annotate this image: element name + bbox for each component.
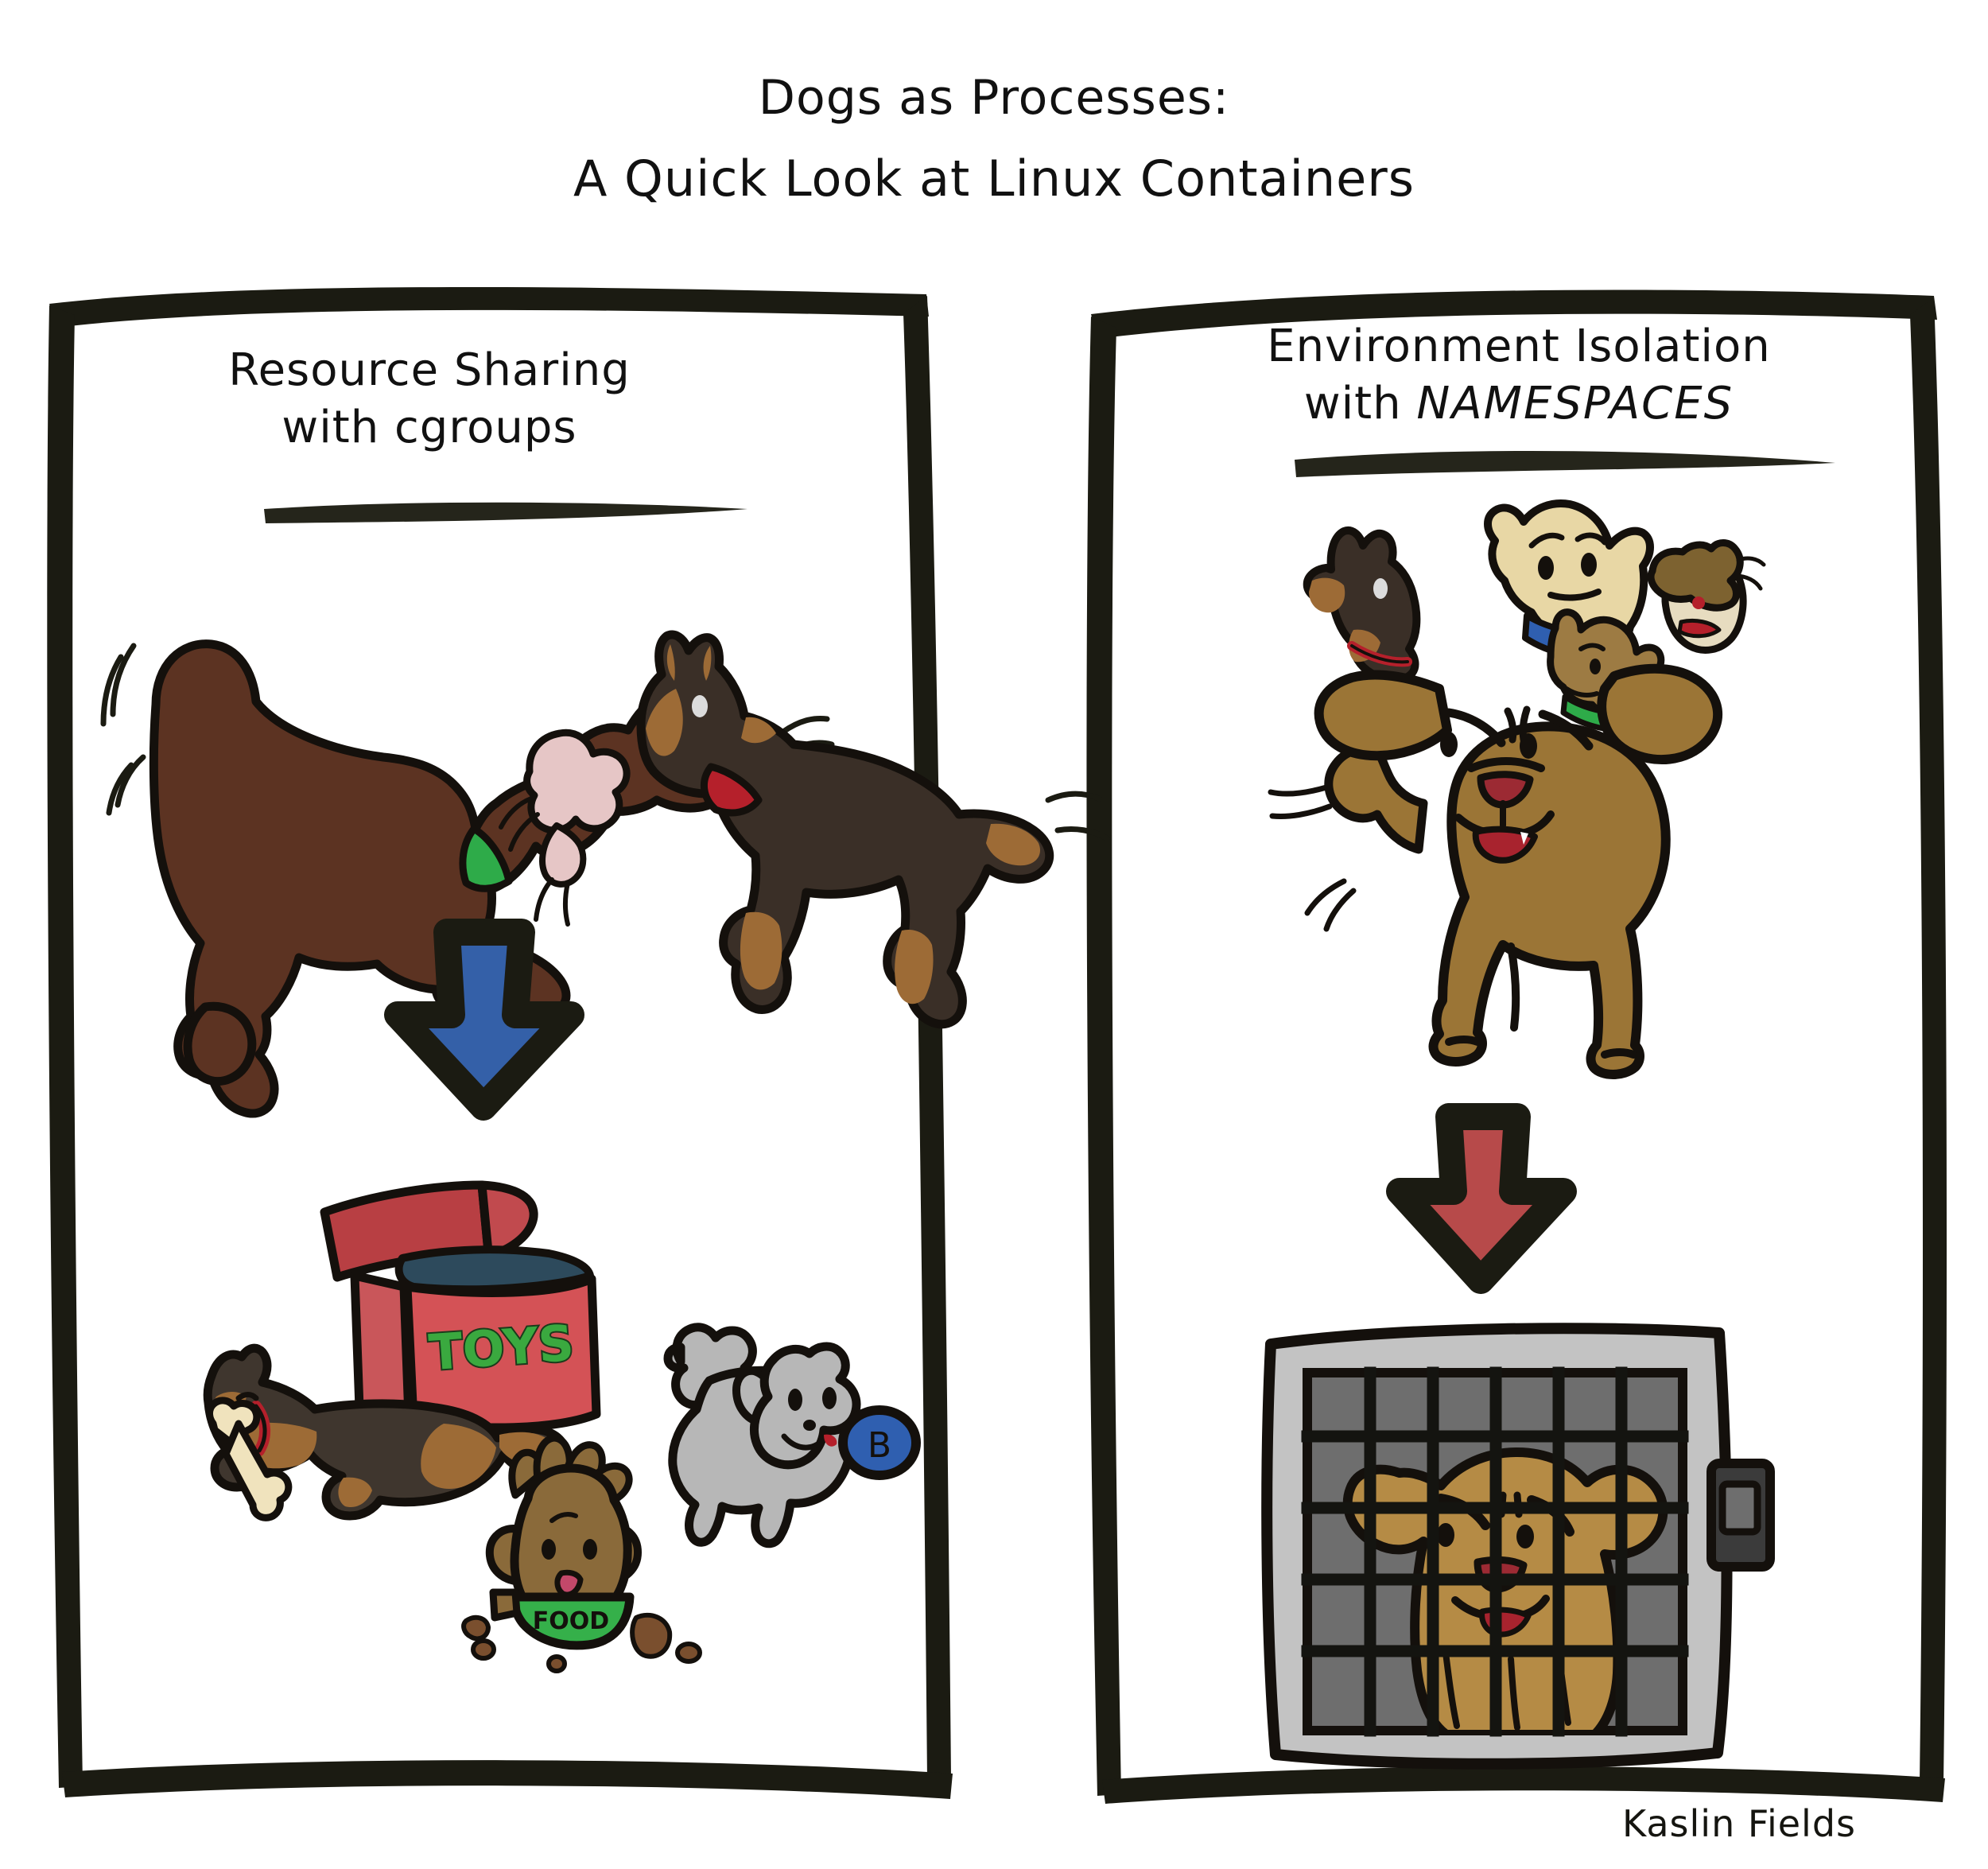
doberman-with-bone	[208, 1348, 565, 1517]
illustration-layer: TOYS	[0, 0, 1988, 1869]
blue-ball-label: B	[868, 1425, 891, 1466]
blue-ball: B	[843, 1410, 916, 1475]
dog-crate	[1267, 1328, 1770, 1764]
page-title-line-1: Dogs as Processes:	[0, 70, 1988, 126]
cgroups-heading-underline	[264, 503, 747, 523]
toy-box: TOYS	[324, 1185, 596, 1428]
namespaces-heading-underline	[1295, 451, 1835, 477]
crate-bars	[1307, 1373, 1683, 1731]
panel-cgroups-heading-line-1: Resource Sharing	[135, 342, 724, 399]
pink-squeaky-toy	[501, 732, 627, 924]
panel-frame-namespaces	[1086, 290, 1947, 1804]
bone	[210, 1401, 289, 1517]
panel-namespaces-heading: Environment Isolation with NAMESPACES	[1185, 318, 1853, 432]
artist-signature: Kaslin Fields	[1622, 1802, 1856, 1845]
down-arrow-blue	[398, 932, 571, 1107]
angry-brown-dog	[1271, 669, 1718, 1074]
doberman-dog	[641, 635, 1050, 1024]
brown-dog	[153, 644, 727, 1113]
scene-two-dogs-tug-of-war	[103, 635, 1107, 1113]
shaggy-head	[1651, 543, 1764, 651]
crated-dog	[1348, 1452, 1664, 1739]
toy-box-label: TOYS	[427, 1314, 576, 1382]
doberman-head	[1307, 530, 1417, 680]
panel-namespaces-heading-prefix: with	[1304, 378, 1417, 429]
panel-frame-cgroups	[47, 287, 953, 1799]
scene-dog-head-vignettes	[1307, 503, 1764, 730]
page-title-line-2: A Quick Look at Linux Containers	[0, 150, 1988, 208]
panel-cgroups-heading: Resource Sharing with cgroups	[135, 342, 724, 456]
kibble	[464, 1615, 700, 1671]
motion-lines-right	[1048, 794, 1107, 838]
labrador-head	[1488, 503, 1650, 657]
tail-motion-lines	[1271, 787, 1353, 929]
panel-cgroups-heading-line-2: with cgroups	[135, 399, 724, 457]
panel-namespaces-heading-emphasis: NAMESPACES	[1416, 378, 1734, 429]
crate-latch[interactable]	[1711, 1463, 1770, 1567]
down-arrow-red	[1400, 1117, 1563, 1280]
puppy-head	[1551, 612, 1661, 730]
scruffy-dog-with-bowl: FOOD	[464, 1438, 700, 1671]
motion-lines	[103, 646, 832, 813]
comic-canvas: Dogs as Processes: A Quick Look at Linux…	[0, 0, 1988, 1869]
scene-shared-resources: TOYS	[208, 1185, 916, 1671]
food-bowl-label: FOOD	[533, 1607, 609, 1635]
gray-poodle	[668, 1327, 856, 1544]
panel-namespaces-heading-line-2: with NAMESPACES	[1185, 375, 1853, 433]
panel-namespaces-heading-line-1: Environment Isolation	[1185, 318, 1853, 375]
